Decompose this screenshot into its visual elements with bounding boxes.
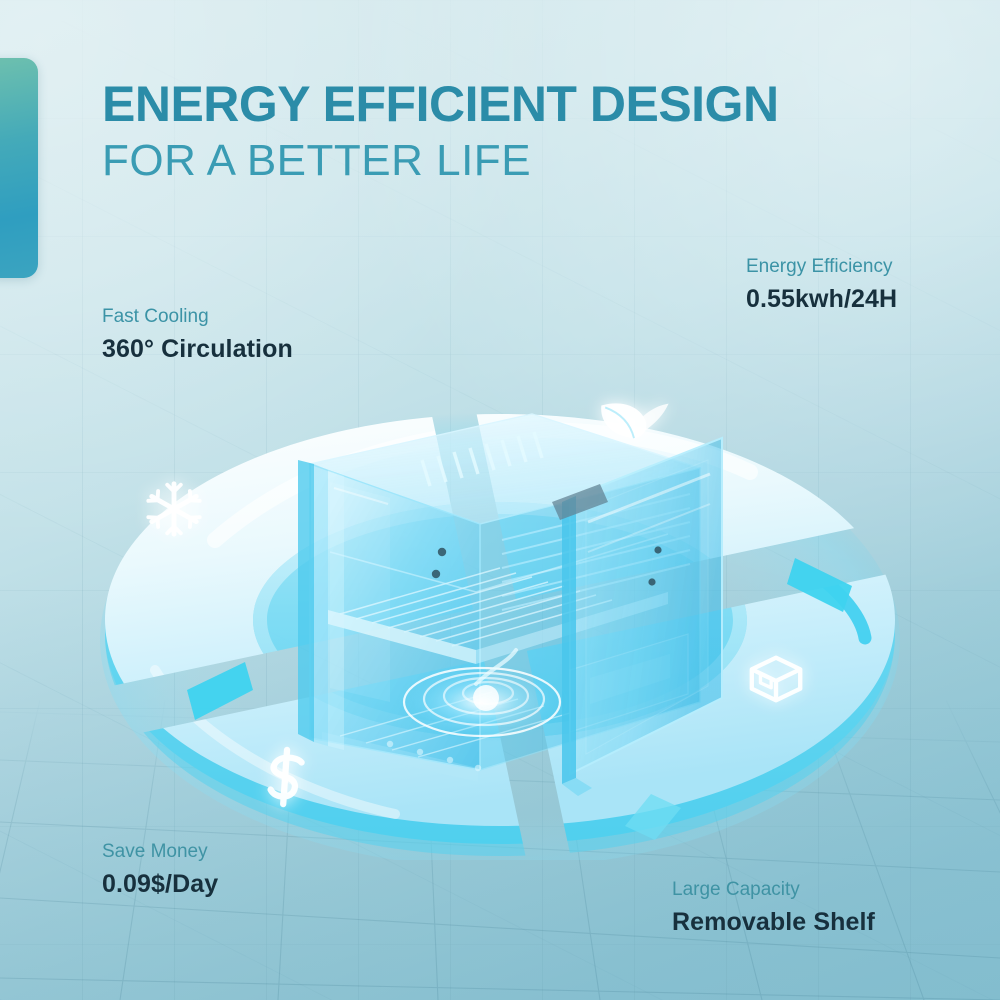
headline-primary: ENERGY EFFICIENT DESIGN — [102, 78, 922, 131]
box-icon — [745, 648, 807, 710]
callout-large-capacity: Large Capacity Removable Shelf — [672, 878, 875, 937]
callout-fast-cooling-value: 360° Circulation — [102, 334, 293, 364]
callout-fast-cooling-sub: Fast Cooling — [102, 305, 293, 329]
callout-large-capacity-sub: Large Capacity — [672, 878, 875, 902]
callout-save-money-value: 0.09$/Day — [102, 869, 218, 899]
poster-canvas: ENERGY EFFICIENT DESIGN FOR A BETTER LIF… — [0, 0, 1000, 1000]
callout-save-money: Save Money 0.09$/Day — [102, 840, 218, 899]
callout-save-money-sub: Save Money — [102, 840, 218, 864]
callout-large-capacity-value: Removable Shelf — [672, 907, 875, 937]
headline-secondary: FOR A BETTER LIFE — [102, 137, 922, 185]
left-accent-tab — [0, 58, 38, 278]
callout-fast-cooling: Fast Cooling 360° Circulation — [102, 305, 293, 364]
snowflake-icon — [143, 478, 205, 540]
callout-energy-efficiency-sub: Energy Efficiency — [746, 255, 897, 279]
callout-energy-efficiency-value: 0.55kwh/24H — [746, 284, 897, 314]
product-stage — [95, 372, 905, 892]
headline-block: ENERGY EFFICIENT DESIGN FOR A BETTER LIF… — [102, 78, 922, 185]
product-mini-fridge — [270, 402, 740, 832]
callout-energy-efficiency: Energy Efficiency 0.55kwh/24H — [746, 255, 897, 314]
